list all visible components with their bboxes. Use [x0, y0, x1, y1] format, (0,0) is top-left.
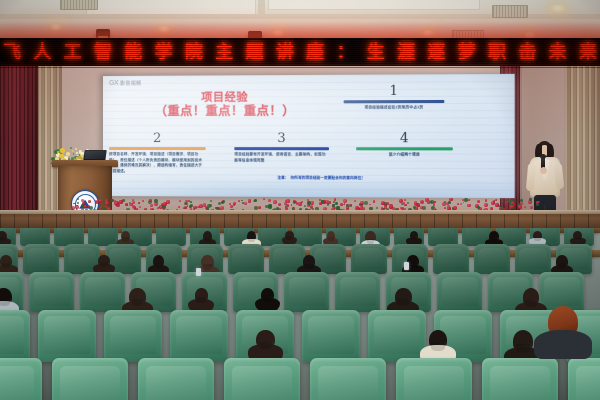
auditorium-seat[interactable] — [80, 272, 125, 312]
smartphone-icon — [404, 262, 409, 270]
audience-head — [121, 231, 130, 241]
podium-flower — [60, 148, 64, 152]
flower-foliage — [510, 199, 512, 201]
led-char: 院 — [185, 44, 203, 62]
flower-blossom — [460, 203, 462, 205]
flower-blossom — [138, 202, 140, 204]
led-char: 学 — [155, 44, 173, 62]
slide-block-4-body: 至少介绍两个项目 — [356, 152, 453, 158]
podium-flower — [75, 148, 78, 151]
auditorium-seat[interactable] — [138, 358, 214, 400]
auditorium-seat[interactable] — [433, 244, 469, 274]
flower-foliage — [529, 198, 532, 201]
flower-blossom — [157, 207, 159, 209]
led-char: 飞 — [3, 44, 21, 62]
flower-blossom — [530, 206, 533, 209]
audience-head — [407, 255, 418, 268]
flower-foliage — [254, 199, 257, 202]
flower-foliage — [111, 199, 114, 202]
flower-foliage — [407, 202, 409, 204]
podium-flower — [78, 156, 81, 159]
audience-seating-area — [0, 228, 600, 400]
audience-head — [203, 231, 212, 242]
podium-flower — [66, 152, 70, 156]
flower-blossom — [520, 202, 524, 206]
flower-blossom — [244, 202, 247, 205]
auditorium-seat[interactable] — [104, 310, 162, 362]
flower-blossom — [354, 200, 356, 202]
slide-block-3-number: 3 — [234, 132, 329, 145]
flower-blossom — [88, 200, 91, 203]
flower-blossom — [142, 200, 144, 202]
flower-blossom — [334, 198, 336, 200]
speaker-arm-right — [554, 163, 565, 190]
flower-blossom — [178, 206, 180, 208]
flower-blossom — [477, 200, 480, 203]
slide-block-3: 3 项目经验要有开发环境、使用语言、主要架构，实现功能等信息体现完整 — [234, 132, 329, 164]
ceiling-downlight — [550, 4, 566, 13]
slide-block-3-body: 项目经验要有开发环境、使用语言、主要架构，实现功能等信息体现完整 — [234, 152, 329, 164]
led-char: 智 — [94, 44, 112, 62]
auditorium-seat[interactable] — [302, 310, 360, 362]
slide-block-2-number: 2 — [109, 132, 206, 145]
flower-blossom — [433, 201, 435, 203]
flower-blossom — [114, 201, 118, 205]
flower-blossom — [258, 206, 261, 209]
slide-note-text: 你所写的项目经验一定要贴合你的意向岗位！ — [291, 176, 366, 182]
flower-blossom — [484, 203, 488, 207]
podium-flower — [73, 153, 75, 155]
led-char: 梦 — [458, 44, 476, 62]
flower-blossom — [132, 199, 134, 201]
flower-foliage — [335, 202, 338, 205]
flower-blossom — [389, 204, 393, 208]
flower-blossom — [233, 202, 236, 205]
flower-blossom — [369, 204, 371, 206]
flower-blossom — [344, 203, 346, 205]
flower-foliage — [364, 201, 368, 205]
flower-blossom — [268, 199, 271, 202]
audience-head — [195, 288, 208, 303]
lecture-hall-photo: 飞人工智能学院主题讲座：生涯逐梦职击未来 GX 影音视频 项目经验 （重点！重点… — [0, 0, 600, 400]
led-char: 涯 — [397, 44, 415, 62]
audience-head — [0, 231, 7, 241]
flower-blossom — [284, 202, 287, 205]
flower-blossom — [263, 198, 265, 200]
led-char: 人 — [33, 44, 51, 62]
audience-head — [153, 255, 164, 268]
flower-blossom — [404, 199, 406, 201]
flower-blossom — [294, 200, 296, 202]
led-banner: 飞人工智能学院主题讲座：生涯逐梦职击未来 — [0, 38, 600, 68]
flower-foliage — [77, 198, 79, 200]
flower-blossom — [491, 201, 495, 205]
flower-blossom — [197, 206, 199, 208]
flower-foliage — [268, 204, 272, 208]
flower-blossom — [319, 202, 322, 205]
slide-block-1-number: 1 — [344, 85, 445, 99]
auditorium-seat[interactable] — [38, 310, 96, 362]
auditorium-seat[interactable] — [310, 358, 386, 400]
audience-head — [489, 231, 498, 242]
ceiling-vent — [492, 5, 528, 18]
flower-blossom — [528, 200, 532, 204]
led-char: 生 — [367, 44, 385, 62]
audience-head — [98, 255, 109, 267]
auditorium-seat[interactable] — [482, 358, 558, 400]
flower-blossom — [166, 200, 170, 204]
flower-blossom — [343, 199, 347, 203]
flower-foliage — [207, 204, 211, 208]
flower-blossom — [73, 203, 75, 205]
flower-foliage — [307, 201, 311, 205]
audience-head — [303, 255, 316, 269]
slide-block-2-body: 按项目名称、开发环境、项目描述（项目需求、项目功能）、责任描述（个人所负责的模块… — [109, 152, 206, 175]
audience-head — [0, 288, 12, 306]
flower-foliage — [304, 205, 306, 207]
led-char: 座 — [306, 44, 324, 62]
flower-foliage — [215, 207, 217, 209]
flower-blossom — [119, 200, 123, 204]
led-char: ： — [336, 44, 354, 62]
flower-foliage — [332, 204, 334, 206]
flower-blossom — [248, 199, 251, 202]
audience-head — [261, 288, 274, 302]
flower-blossom — [139, 206, 142, 209]
audience-head — [327, 231, 335, 241]
ceiling-beam — [258, 0, 265, 16]
flower-blossom — [132, 201, 134, 203]
flower-foliage — [210, 200, 213, 203]
slide-note: 注意： 你所写的项目经验一定要贴合你的意向岗位！ — [277, 176, 433, 182]
audience-head — [429, 330, 448, 350]
led-char: 题 — [246, 44, 264, 62]
slide-block-2: 2 按项目名称、开发环境、项目描述（项目需求、项目功能）、责任描述（个人所负责的… — [109, 132, 206, 175]
flower-foliage — [505, 199, 507, 201]
flower-blossom — [384, 205, 388, 209]
flower-blossom — [84, 205, 87, 208]
projection-screen: GX 影音视频 项目经验 （重点！重点！重点！） 1 项目经验描述应在2页简历中… — [103, 74, 515, 198]
led-char: 击 — [518, 44, 536, 62]
flower-blossom — [495, 199, 497, 201]
audience-head — [410, 231, 418, 240]
slide-block-4-number: 4 — [356, 132, 453, 145]
slide-block-3-bar — [234, 147, 329, 150]
auditorium-seat[interactable] — [515, 244, 551, 274]
auditorium-seat[interactable] — [29, 272, 74, 312]
slide-block-1: 1 项目经验描述应在2页简历中占1页 — [344, 85, 445, 112]
flower-blossom — [505, 202, 507, 204]
flower-foliage — [376, 207, 378, 209]
audience-head — [548, 306, 578, 338]
flower-foliage — [221, 201, 224, 204]
led-char: 未 — [549, 44, 567, 62]
speaker-hand — [540, 167, 547, 174]
auditorium-seat[interactable] — [284, 272, 329, 312]
auditorium-seat[interactable] — [228, 244, 264, 274]
audience-head — [256, 330, 274, 349]
flower-blossom — [373, 200, 376, 203]
slide-title: 项目经验 （重点！重点！重点！） — [131, 91, 320, 118]
audience-head — [523, 288, 540, 307]
flower-blossom — [149, 199, 152, 202]
flower-blossom — [278, 203, 281, 206]
flower-blossom — [467, 204, 471, 208]
flower-foliage — [241, 200, 243, 202]
audience-head — [556, 255, 568, 269]
auditorium-seat[interactable] — [351, 244, 387, 274]
slide-block-4: 4 至少介绍两个项目 — [356, 132, 453, 158]
auditorium-seat[interactable] — [474, 244, 510, 274]
led-char: 主 — [215, 44, 233, 62]
audience-head — [285, 231, 293, 240]
flower-blossom — [495, 203, 498, 206]
smartphone-icon — [196, 268, 201, 276]
led-char: 来 — [579, 44, 597, 62]
led-char: 能 — [124, 44, 142, 62]
flower-foliage — [327, 203, 330, 206]
led-char: 工 — [64, 44, 82, 62]
slide-logo-mark: GX — [109, 80, 118, 87]
slide-logo-wordmark: 影音视频 — [120, 80, 141, 87]
auditorium-seat[interactable] — [368, 310, 426, 362]
auditorium-seat[interactable] — [437, 272, 482, 312]
auditorium-seat[interactable] — [23, 244, 59, 274]
flower-blossom — [538, 201, 540, 203]
flower-blossom — [179, 200, 181, 202]
flower-blossom — [420, 206, 423, 209]
audience-head — [573, 231, 581, 240]
led-char: 逐 — [427, 44, 445, 62]
auditorium-seat[interactable] — [170, 310, 228, 362]
audience-head — [0, 255, 12, 268]
flower-blossom — [414, 201, 417, 204]
slide-block-2-bar — [109, 147, 206, 150]
auditorium-seat[interactable] — [396, 358, 472, 400]
led-char: 讲 — [276, 44, 294, 62]
flower-blossom — [291, 204, 293, 206]
slide-block-4-bar — [356, 147, 453, 150]
flower-foliage — [444, 201, 446, 203]
slide-note-label: 注意： — [277, 176, 288, 182]
audience-head — [513, 330, 533, 353]
audience-head — [365, 231, 375, 244]
podium-flower — [72, 150, 74, 152]
ceiling — [0, 0, 600, 42]
flower-foliage — [448, 201, 451, 204]
audience-head — [395, 288, 412, 306]
flower-blossom — [125, 203, 128, 206]
audience-shoulders — [534, 330, 592, 359]
flower-blossom — [518, 205, 522, 209]
flower-foliage — [218, 202, 221, 205]
audience-head — [129, 288, 145, 306]
slide-block-1-body: 项目经验描述应在2页简历中占1页 — [344, 105, 445, 111]
auditorium-seat[interactable] — [568, 358, 600, 400]
audience-head — [247, 231, 257, 242]
podium-flower — [57, 151, 59, 153]
flower-blossom — [427, 200, 430, 203]
flower-blossom — [485, 199, 488, 202]
auditorium-seat[interactable] — [52, 358, 128, 400]
flower-foliage — [430, 200, 434, 204]
curtain-right-tan — [564, 66, 600, 234]
flower-blossom — [444, 207, 446, 209]
flower-blossom — [340, 203, 343, 206]
audience-head — [201, 255, 214, 269]
auditorium-seat[interactable] — [0, 358, 42, 400]
audience-head — [533, 231, 542, 240]
flower-foliage — [81, 204, 83, 206]
flower-foliage — [463, 202, 465, 204]
slide-block-1-bar — [344, 100, 445, 103]
flower-blossom — [524, 206, 526, 208]
flower-blossom — [273, 200, 277, 204]
auditorium-seat[interactable] — [224, 358, 300, 400]
flower-blossom — [421, 201, 423, 203]
flower-foliage — [417, 207, 419, 209]
flower-blossom — [238, 200, 240, 202]
auditorium-seat[interactable] — [335, 272, 380, 312]
flower-foliage — [464, 198, 468, 202]
ceiling-vent — [60, 0, 98, 10]
led-char: 职 — [488, 44, 506, 62]
flower-blossom — [468, 199, 470, 201]
flower-blossom — [150, 204, 153, 207]
slide-title-line2: （重点！重点！重点！） — [131, 104, 320, 118]
auditorium-seat[interactable] — [0, 310, 30, 362]
slide-logo: GX 影音视频 — [109, 80, 141, 87]
flower-foliage — [190, 204, 193, 207]
flower-blossom — [99, 199, 102, 202]
ceiling-panel — [268, 0, 480, 10]
flower-blossom — [301, 201, 303, 203]
